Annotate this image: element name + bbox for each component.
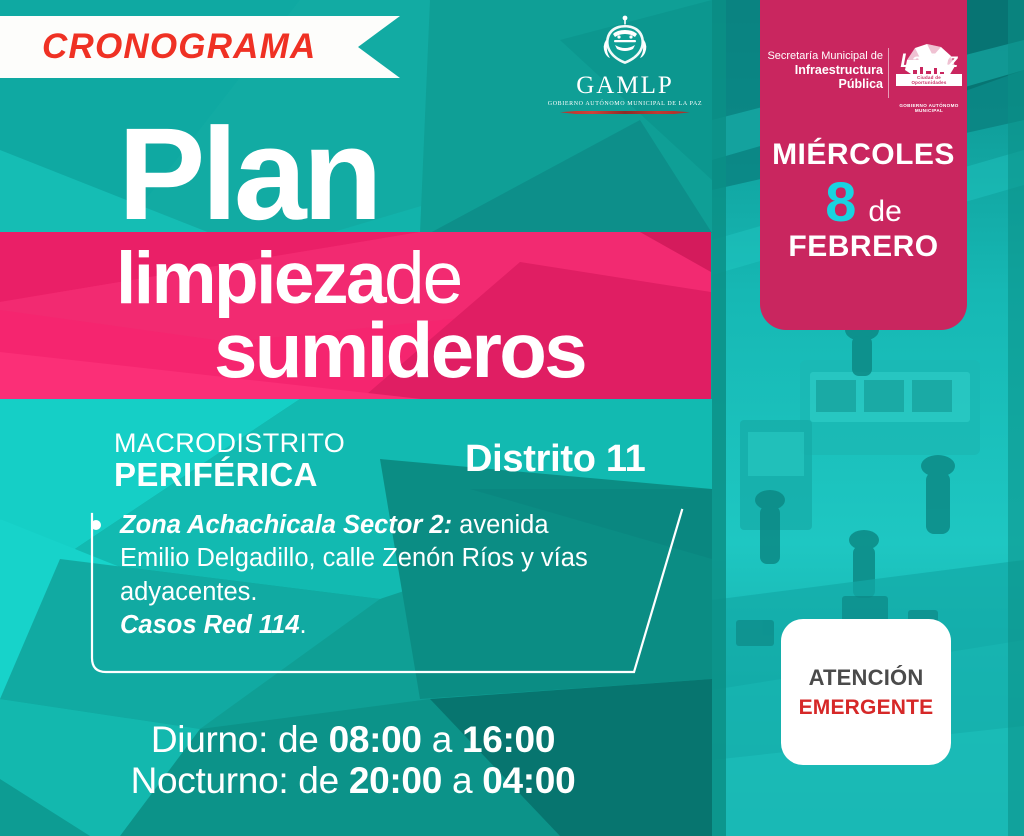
coat-of-arms-icon xyxy=(592,14,658,66)
logo-divider xyxy=(888,48,889,98)
schedule-night-start: 20:00 xyxy=(349,760,442,801)
date-connector: de xyxy=(868,197,901,227)
macrodistrito-name: PERIFÉRICA xyxy=(114,458,345,492)
lapaz-subtitle: GOBIERNO AUTÓNOMO MUNICIPAL xyxy=(896,103,962,113)
schedule-night-sep: a xyxy=(442,760,482,801)
schedule-night: Nocturno: de 20:00 a 04:00 xyxy=(0,760,706,801)
secretaria-logo: Secretaría Municipal de Infraestructura … xyxy=(765,50,883,92)
schedule-block: Diurno: de 08:00 a 16:00 Nocturno: de 20… xyxy=(0,719,706,802)
cronograma-label: CRONOGRAMA xyxy=(42,16,316,78)
lapaz-logo: La Paz Ciudad de Oportunidades GOBIERNO … xyxy=(896,44,962,113)
date-panel: Secretaría Municipal de Infraestructura … xyxy=(760,0,967,330)
zone-cases: Casos Red 114 xyxy=(120,611,300,639)
bullet-point-icon xyxy=(91,520,101,530)
atencion-label: ATENCIÓN xyxy=(809,665,924,691)
zone-heading: Zona Achachicala Sector 2: xyxy=(120,511,452,539)
gamlp-rule xyxy=(560,111,690,114)
gamlp-subtitle: GOBIERNO AUTÓNOMO MUNICIPAL DE LA PAZ xyxy=(540,101,710,107)
schedule-day-start: 08:00 xyxy=(329,719,422,760)
schedule-day: Diurno: de 08:00 a 16:00 xyxy=(0,719,706,760)
gamlp-logo: GAMLP GOBIERNO AUTÓNOMO MUNICIPAL DE LA … xyxy=(540,14,710,122)
cronograma-banner: CRONOGRAMA xyxy=(0,16,400,78)
zone-cases-suffix: . xyxy=(300,611,307,639)
date-month: FEBRERO xyxy=(760,232,967,262)
macrodistrito-block: MACRODISTRITO PERIFÉRICA xyxy=(114,430,345,491)
secretaria-line2: Infraestructura Pública xyxy=(765,63,883,92)
title-limpieza-de: limpiezade xyxy=(116,242,461,315)
schedule-day-sep: a xyxy=(422,719,462,760)
lapaz-name: La Paz xyxy=(896,44,962,71)
schedule-night-label: Nocturno: de xyxy=(131,760,349,801)
date-block: MIÉRCOLES 8 de FEBRERO xyxy=(760,140,967,262)
gamlp-name: GAMLP xyxy=(540,73,710,98)
zone-description: Zona Achachicala Sector 2: avenida Emili… xyxy=(120,509,620,643)
secretaria-line1: Secretaría Municipal de xyxy=(765,50,883,63)
distrito-label: Distrito 11 xyxy=(465,438,645,481)
schedule-day-end: 16:00 xyxy=(462,719,555,760)
schedule-day-label: Diurno: de xyxy=(151,719,329,760)
date-weekday: MIÉRCOLES xyxy=(760,140,967,170)
atencion-emergente-card: ATENCIÓN EMERGENTE xyxy=(781,619,951,765)
date-day-row: 8 de xyxy=(760,174,967,230)
title-sumideros: sumideros xyxy=(214,311,585,389)
title-plan: Plan xyxy=(118,108,379,239)
macrodistrito-label: MACRODISTRITO xyxy=(114,430,345,458)
emergente-label: EMERGENTE xyxy=(799,696,934,720)
lapaz-tagline: Ciudad de Oportunidades xyxy=(896,74,962,86)
date-day-number: 8 xyxy=(825,174,856,230)
poster-canvas: CRONOGRAMA GAMLP GOBIERNO AUTÓNOMO MUNIC… xyxy=(0,0,1024,836)
schedule-night-end: 04:00 xyxy=(482,760,575,801)
